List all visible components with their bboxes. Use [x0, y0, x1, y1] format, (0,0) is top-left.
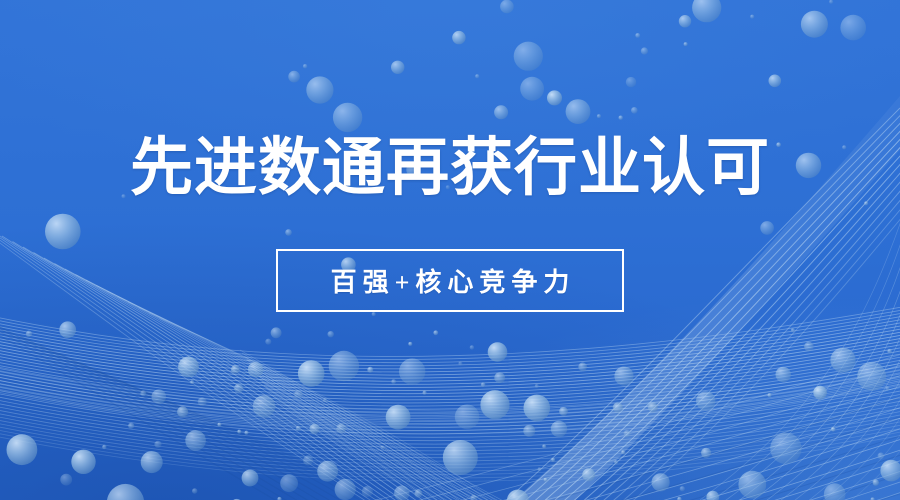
subtitle-label: 百强+核心竞争力 [325, 262, 576, 299]
subtitle-frame: 百强+核心竞争力 [276, 249, 624, 312]
page-title: 先进数通再获行业认可 [130, 136, 770, 200]
banner-content: 先进数通再获行业认可 百强+核心竞争力 [0, 0, 900, 500]
promo-banner: 先进数通再获行业认可 百强+核心竞争力 [0, 0, 900, 500]
